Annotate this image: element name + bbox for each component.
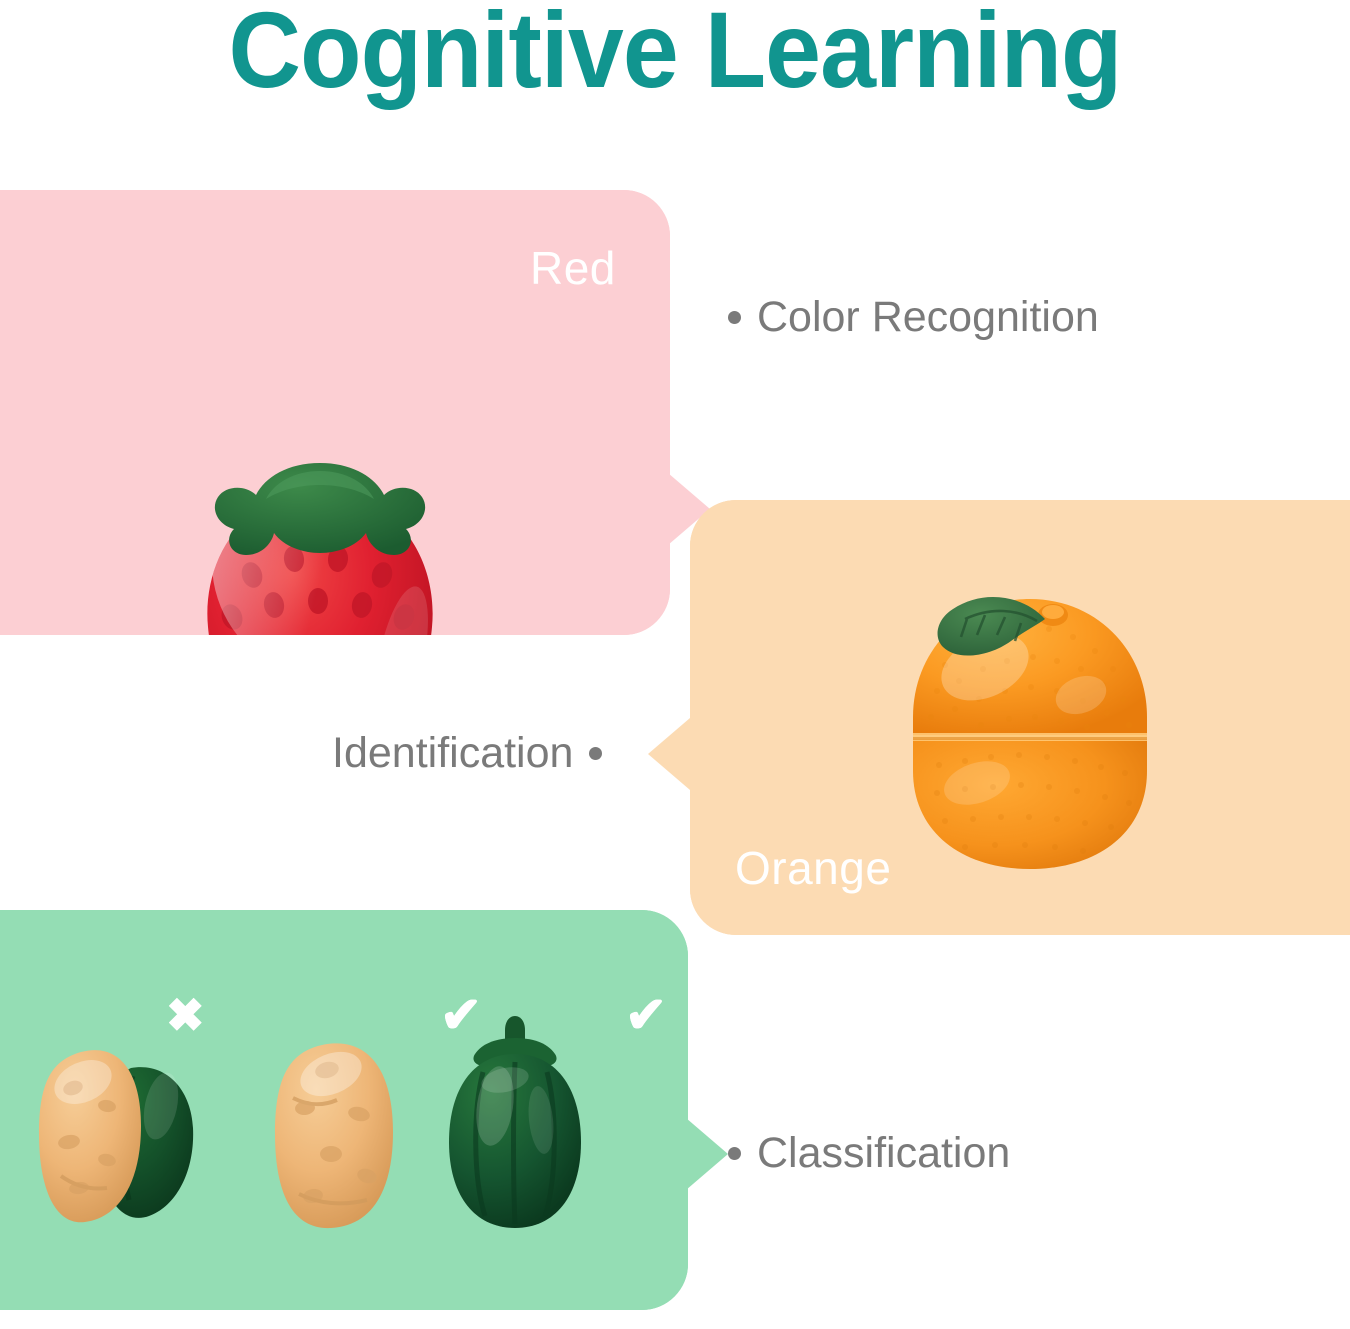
bullet-dot-icon: [728, 1147, 741, 1160]
card-color-recognition: Red: [0, 190, 670, 635]
strawberry-toy-image: [170, 455, 470, 635]
bullet-dot-icon: [728, 311, 741, 324]
card-orange-tail: [648, 718, 690, 790]
card-color-recognition-body: Red: [0, 190, 670, 635]
card-identification: Orange: [690, 500, 1350, 935]
caption-color-recognition: Color Recognition: [728, 292, 1099, 342]
orange-toy-image: [885, 575, 1175, 875]
vegetable-toys-image: [35, 1010, 595, 1290]
page-title: Cognitive Learning: [47, 0, 1303, 110]
card-green-tail: [686, 1118, 728, 1190]
caption-classification: Classification: [728, 1128, 1010, 1178]
caption-identification: Identification: [332, 728, 602, 778]
card-orange-color-label: Orange: [735, 845, 891, 891]
check-mark-icon: ✔: [625, 990, 667, 1040]
poster-root: Cognitive Learning: [0, 0, 1350, 1329]
caption-identification-label: Identification: [332, 728, 573, 778]
caption-classification-label: Classification: [757, 1128, 1010, 1178]
caption-color-recognition-label: Color Recognition: [757, 292, 1099, 342]
check-mark-icon: ✔: [440, 990, 482, 1040]
card-classification: [0, 910, 688, 1310]
card-classification-body: [0, 910, 688, 1310]
card-red-color-label: Red: [530, 245, 616, 291]
cross-mark-icon: ✖: [166, 992, 205, 1038]
card-identification-body: Orange: [690, 500, 1350, 935]
bullet-dot-icon: [589, 747, 602, 760]
